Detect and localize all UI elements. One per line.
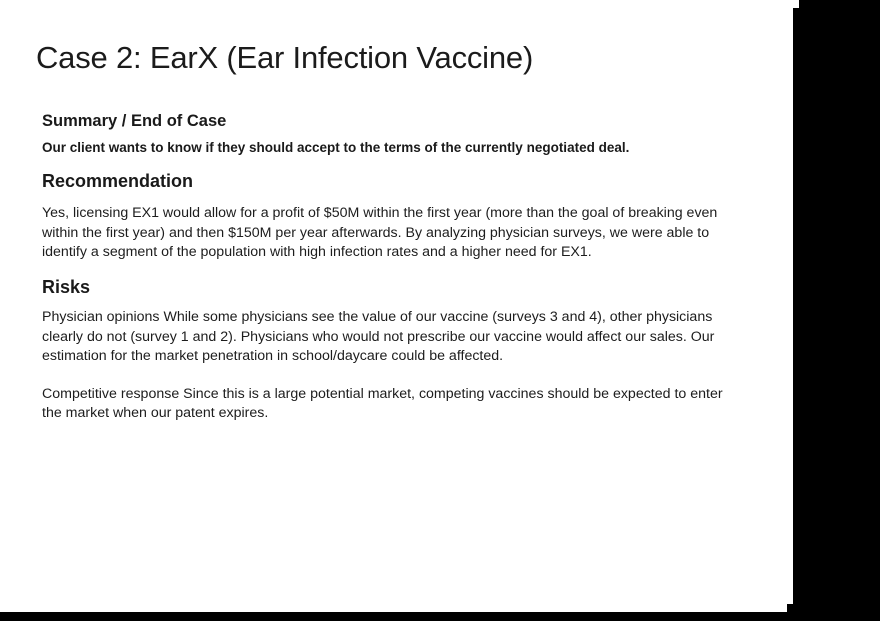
recommendation-paragraph: Yes, licensing EX1 would allow for a pro… (42, 204, 744, 262)
spacer (42, 297, 744, 308)
section-heading-summary: Summary / End of Case (42, 112, 744, 131)
document-page: Case 2: EarX (Ear Infection Vaccine) Sum… (0, 0, 793, 612)
document-body: Summary / End of Case Our client wants t… (42, 112, 744, 424)
frame-nub-bottom-right (787, 604, 799, 613)
page-title: Case 2: EarX (Ear Infection Vaccine) (36, 40, 533, 76)
frame-notch-top-right (793, 0, 799, 8)
summary-lead-statement: Our client wants to know if they should … (42, 139, 744, 157)
section-heading-risks: Risks (42, 277, 744, 298)
spacer (42, 263, 744, 277)
slide-frame: Case 2: EarX (Ear Infection Vaccine) Sum… (0, 0, 880, 621)
spacer (42, 157, 744, 171)
spacer (42, 367, 744, 385)
section-heading-recommendation: Recommendation (42, 171, 744, 192)
spacer (42, 191, 744, 204)
risk-paragraph-competitive-response: Competitive response Since this is a lar… (42, 385, 744, 424)
risk-paragraph-physician-opinions: Physician opinions While some physicians… (42, 308, 744, 366)
